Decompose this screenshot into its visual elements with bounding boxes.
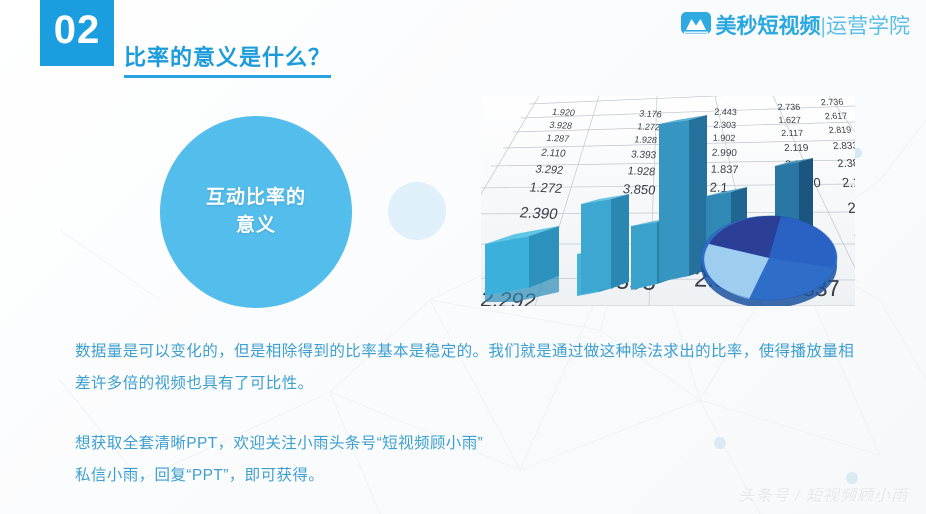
svg-text:1.902: 1.902 [712, 133, 735, 143]
svg-text:2.119: 2.119 [841, 174, 855, 190]
decorative-dot-2 [714, 437, 726, 449]
chart-illustration: 1.920 3.928 1.287 2.110 3.292 1.272 2.39… [481, 96, 855, 306]
svg-text:1.928: 1.928 [634, 134, 658, 145]
brand-name: 美秒短视频 [716, 15, 821, 38]
svg-text:3.928: 3.928 [548, 120, 573, 131]
svg-text:2.833: 2.833 [832, 141, 855, 152]
body-paragraph-2-line-1: 想获取全套清晰PPT，欢迎关注小雨头条号“短视频顾小雨” [75, 428, 695, 460]
svg-text:3.176: 3.176 [639, 108, 663, 119]
svg-text:2.819: 2.819 [828, 125, 852, 135]
svg-text:3.393: 3.393 [630, 149, 657, 161]
concept-circle-label: 互动比率的 意义 [206, 184, 306, 239]
body-paragraph-2-line-2: 私信小雨，回复“PPT”，即可获得。 [75, 460, 695, 492]
svg-text:2.119: 2.119 [784, 143, 809, 154]
chart-illustration-svg: 1.920 3.928 1.287 2.110 3.292 1.272 2.39… [481, 96, 855, 306]
concept-circle: 互动比率的 意义 [160, 116, 352, 308]
tiny-watermark-mark: ' [681, 457, 682, 464]
svg-text:2.303: 2.303 [713, 120, 736, 130]
concept-circle-line-2: 意义 [206, 212, 306, 240]
svg-text:1.287: 1.287 [546, 133, 571, 144]
svg-text:2.736: 2.736 [820, 97, 844, 107]
section-number-text: 02 [40, 0, 114, 60]
svg-text:1.920: 1.920 [551, 107, 576, 118]
svg-text:3.292: 3.292 [534, 164, 564, 177]
svg-text:1.928: 1.928 [627, 165, 656, 178]
decorative-small-circle [388, 182, 446, 240]
section-number-badge: 02 [40, 0, 114, 66]
brand-logo: 美秒短视频|运营学院 [681, 10, 910, 40]
svg-text:2.110: 2.110 [540, 148, 567, 160]
svg-text:2.389: 2.389 [837, 158, 855, 170]
svg-text:2.117: 2.117 [781, 128, 803, 138]
bar-3 [581, 194, 629, 294]
svg-text:1.627: 1.627 [778, 115, 801, 125]
svg-text:2.736: 2.736 [777, 102, 800, 112]
brand-sub-name: 运营学院 [826, 15, 910, 38]
page-title: 比率的意义是什么？ [124, 40, 331, 78]
presentation-slide: 02 比率的意义是什么？ 美秒短视频|运营学院 互动比率的 意义 [0, 0, 926, 514]
svg-text:2.990: 2.990 [712, 148, 738, 159]
svg-text:2.617: 2.617 [824, 111, 848, 121]
svg-text:2.115: 2.115 [847, 199, 855, 217]
bar-5 [659, 115, 707, 282]
concept-circle-line-1: 互动比率的 [206, 184, 306, 212]
watermark-text: 头条号 / 短视频顾小雨 [739, 482, 908, 506]
body-paragraph-2: 想获取全套清晰PPT，欢迎关注小雨头条号“短视频顾小雨” 私信小雨，回复“PPT… [75, 428, 695, 492]
pie-chart [701, 216, 837, 306]
svg-text:1.272: 1.272 [528, 180, 564, 196]
svg-text:1.837: 1.837 [711, 164, 739, 177]
mountain-m-icon [681, 12, 711, 38]
svg-text:2.390: 2.390 [518, 204, 559, 223]
body-paragraph-1: 数据量是可以变化的，但是相除得到的比率基本是稳定的。我们就是通过做这种除法求出的… [75, 336, 865, 400]
svg-text:2.443: 2.443 [714, 107, 737, 117]
brand-logo-text: 美秒短视频|运营学院 [716, 10, 910, 40]
svg-text:1.272: 1.272 [637, 121, 661, 132]
